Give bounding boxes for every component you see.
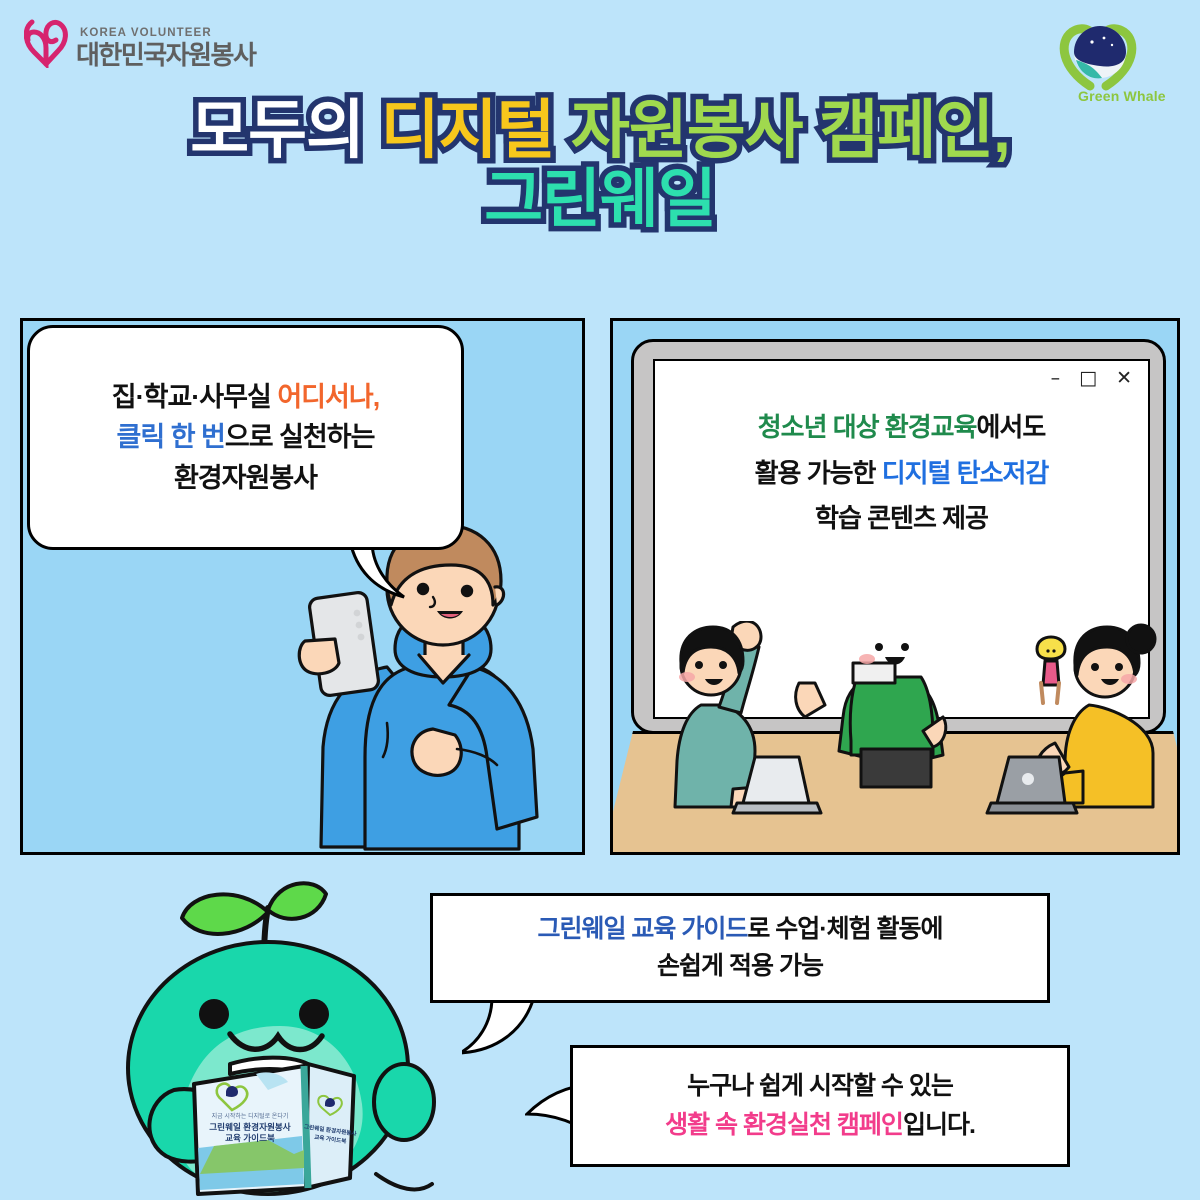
monitor-seg-1a: 청소년 대상 환경교육 <box>758 412 977 442</box>
speech-bubble-easy-start: 누구나 쉽게 시작할 수 있는 생활 속 환경실천 캠페인입니다. <box>570 1045 1070 1167</box>
monitor-line-3: 학습 콘텐츠 제공 <box>655 496 1148 542</box>
monitor-line-2: 활용 가능한 디지털 탄소저감 <box>655 451 1148 497</box>
bubble-easy-line-2: 생활 속 환경실천 캠페인입니다. <box>665 1106 975 1145</box>
bubble-left-seg-1b: 어디서나, <box>277 382 379 412</box>
logo-subtitle-en: KOREA VOLUNTEER <box>80 28 212 40</box>
bubble-guide-seg-1a: 그린웨일 교육 가이드 <box>537 915 747 943</box>
speech-bubble-anywhere: 집·학교·사무실 어디서나, 클릭 한 번으로 실천하는 환경자원봉사 <box>27 325 464 550</box>
svg-text:지금 시작하는 디지털로 온다기: 지금 시작하는 디지털로 온다기 <box>212 1112 289 1120</box>
maximize-icon[interactable]: □ <box>1079 369 1097 388</box>
bubble-left-seg-2a: 클릭 한 번 <box>117 422 225 452</box>
monitor-seg-1b: 에서도 <box>976 412 1045 442</box>
title-line-1: 모두의 디지털 자원봉사 캠페인, <box>0 96 1200 165</box>
svg-text:그린웨일 환경자원봉사: 그린웨일 환경자원봉사 <box>209 1121 291 1132</box>
title-seg-greenwhale: 그린웨일 <box>484 163 716 235</box>
title-seg-moduui: 모두의 <box>190 94 380 166</box>
title-seg-campaign: 자원봉사 캠페인, <box>571 94 1010 166</box>
minimize-icon[interactable]: – <box>1051 369 1061 388</box>
bubble-guide-line-2: 손쉽게 적용 가능 <box>657 948 823 986</box>
svg-text:교육 가이드북: 교육 가이드북 <box>225 1132 275 1143</box>
bubble-easy-line-1: 누구나 쉽게 시작할 수 있는 <box>687 1067 953 1106</box>
monitor-seg-2a: 활용 가능한 <box>755 458 882 488</box>
speech-bubble-education-guide: 그린웨일 교육 가이드로 수업·체험 활동에 손쉽게 적용 가능 <box>430 893 1050 1003</box>
monitor-text: 청소년 대상 환경교육에서도 활용 가능한 디지털 탄소저감 학습 콘텐츠 제공 <box>655 405 1148 542</box>
title-line-2: 그린웨일 <box>0 165 1200 234</box>
boy-with-smartphone-illustration <box>291 517 585 855</box>
monitor-seg-2b: 디지털 탄소저감 <box>882 458 1049 488</box>
bubble-left-line-1: 집·학교·사무실 어디서나, <box>112 377 379 418</box>
bubble-easy-seg-2b: 입니다. <box>903 1111 975 1139</box>
monitor-line-1: 청소년 대상 환경교육에서도 <box>655 405 1148 451</box>
green-whale-mascot-illustration: 지금 시작하는 디지털로 온다기 그린웨일 환경자원봉사 교육 가이드북 그린웨… <box>118 878 458 1200</box>
speech-bubble-tail-guide <box>462 997 558 1059</box>
bubble-easy-seg-2a: 생활 속 환경실천 캠페인 <box>665 1111 903 1139</box>
bubble-guide-seg-1b: 로 수업·체험 활동에 <box>747 915 942 943</box>
bubble-left-seg-1a: 집·학교·사무실 <box>112 382 278 412</box>
heart-icon <box>24 18 70 68</box>
korea-volunteer-logo: KOREA VOLUNTEER 대한민국자원봉사 <box>24 18 255 68</box>
title-seg-digital: 디지털 <box>381 94 571 166</box>
bubble-left-line-2: 클릭 한 번으로 실천하는 <box>117 417 375 458</box>
page-title: 모두의 디지털 자원봉사 캠페인, 그린웨일 <box>0 96 1200 234</box>
close-icon[interactable]: ✕ <box>1116 369 1132 388</box>
infographic-canvas: KOREA VOLUNTEER 대한민국자원봉사 Green Whale 모두의… <box>0 0 1200 1200</box>
green-whale-logo: Green Whale <box>1048 8 1178 108</box>
bubble-left-line-3: 환경자원봉사 <box>174 458 317 499</box>
logo-title-ko: 대한민국자원봉사 <box>76 42 255 68</box>
classroom-people-illustration <box>613 621 1177 855</box>
panel-left: 집·학교·사무실 어디서나, 클릭 한 번으로 실천하는 환경자원봉사 <box>20 318 585 855</box>
panel-right: – □ ✕ 청소년 대상 환경교육에서도 활용 가능한 디지털 탄소저감 학습 … <box>610 318 1180 855</box>
bubble-left-seg-2b: 으로 실천하는 <box>225 422 375 452</box>
window-controls: – □ ✕ <box>1051 369 1132 388</box>
bubble-guide-line-1: 그린웨일 교육 가이드로 수업·체험 활동에 <box>537 911 942 949</box>
